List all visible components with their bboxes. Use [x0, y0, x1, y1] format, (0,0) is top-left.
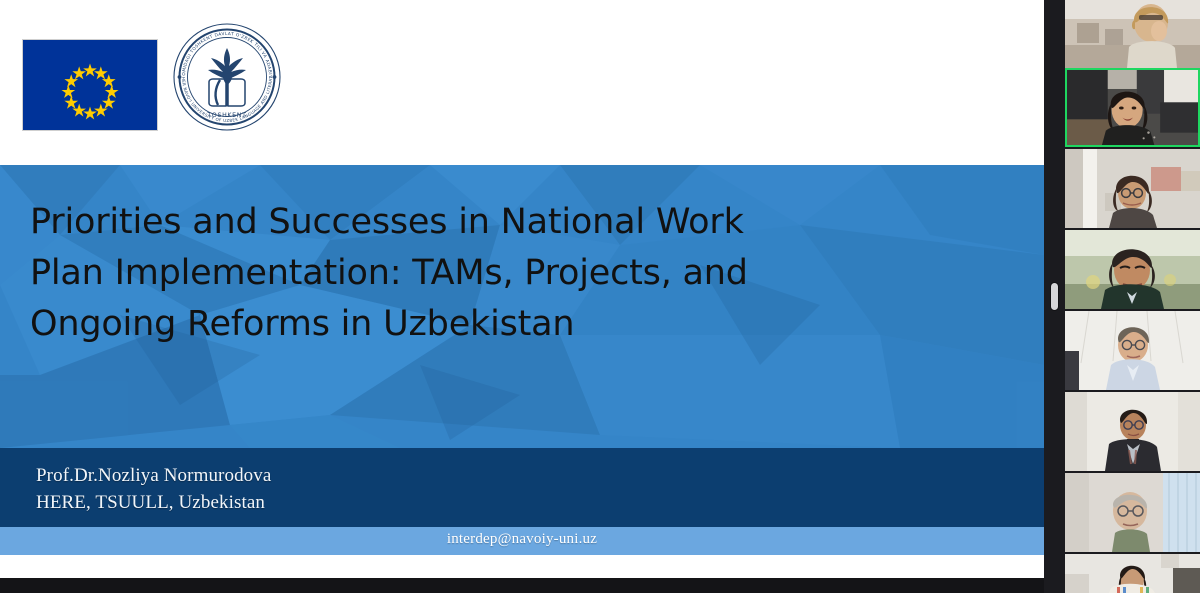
participant-tile-7[interactable] — [1065, 473, 1200, 552]
slide-title: Priorities and Successes in National Wor… — [30, 197, 830, 350]
meeting-window: ALISHER NAVOIY NOMIDAGI TOSHKENT DAVLAT … — [0, 0, 1200, 593]
participant-tile-2-active-speaker[interactable] — [1065, 68, 1200, 147]
stage-bottom-letterbox — [0, 578, 1044, 593]
participant-filmstrip[interactable] — [1065, 0, 1200, 593]
splitter-drag-handle[interactable] — [1051, 283, 1058, 310]
participant-tile-6[interactable] — [1065, 392, 1200, 471]
participant-tile-3[interactable] — [1065, 149, 1200, 228]
presentation-slide: ALISHER NAVOIY NOMIDAGI TOSHKENT DAVLAT … — [0, 0, 1044, 578]
participant-tile-8[interactable] — [1065, 554, 1200, 593]
contact-email: interdep@navoiy-uni.uz — [0, 531, 1044, 548]
presenter-band: Prof.Dr.Nozliya Normurodova HERE, TSUULL… — [0, 448, 1044, 527]
panel-splitter[interactable] — [1044, 0, 1065, 593]
slide-title-panel: Priorities and Successes in National Wor… — [0, 165, 1044, 448]
slide-bottom-whitespace — [0, 555, 1044, 578]
svg-text:TOSHKENT: TOSHKENT — [206, 112, 246, 119]
presenter-affiliation: HERE, TSUULL, Uzbekistan — [36, 492, 265, 514]
tsuull-university-seal-icon: ALISHER NAVOIY NOMIDAGI TOSHKENT DAVLAT … — [168, 18, 286, 136]
participant-tile-5[interactable] — [1065, 311, 1200, 390]
shared-screen-stage[interactable]: ALISHER NAVOIY NOMIDAGI TOSHKENT DAVLAT … — [0, 0, 1044, 593]
contact-bar: interdep@navoiy-uni.uz — [0, 527, 1044, 555]
participant-tile-4[interactable] — [1065, 230, 1200, 309]
european-union-flag-icon — [22, 39, 158, 131]
slide-logo-header: ALISHER NAVOIY NOMIDAGI TOSHKENT DAVLAT … — [0, 0, 1044, 165]
participant-tile-1[interactable] — [1065, 0, 1200, 68]
presenter-name: Prof.Dr.Nozliya Normurodova — [36, 465, 271, 487]
